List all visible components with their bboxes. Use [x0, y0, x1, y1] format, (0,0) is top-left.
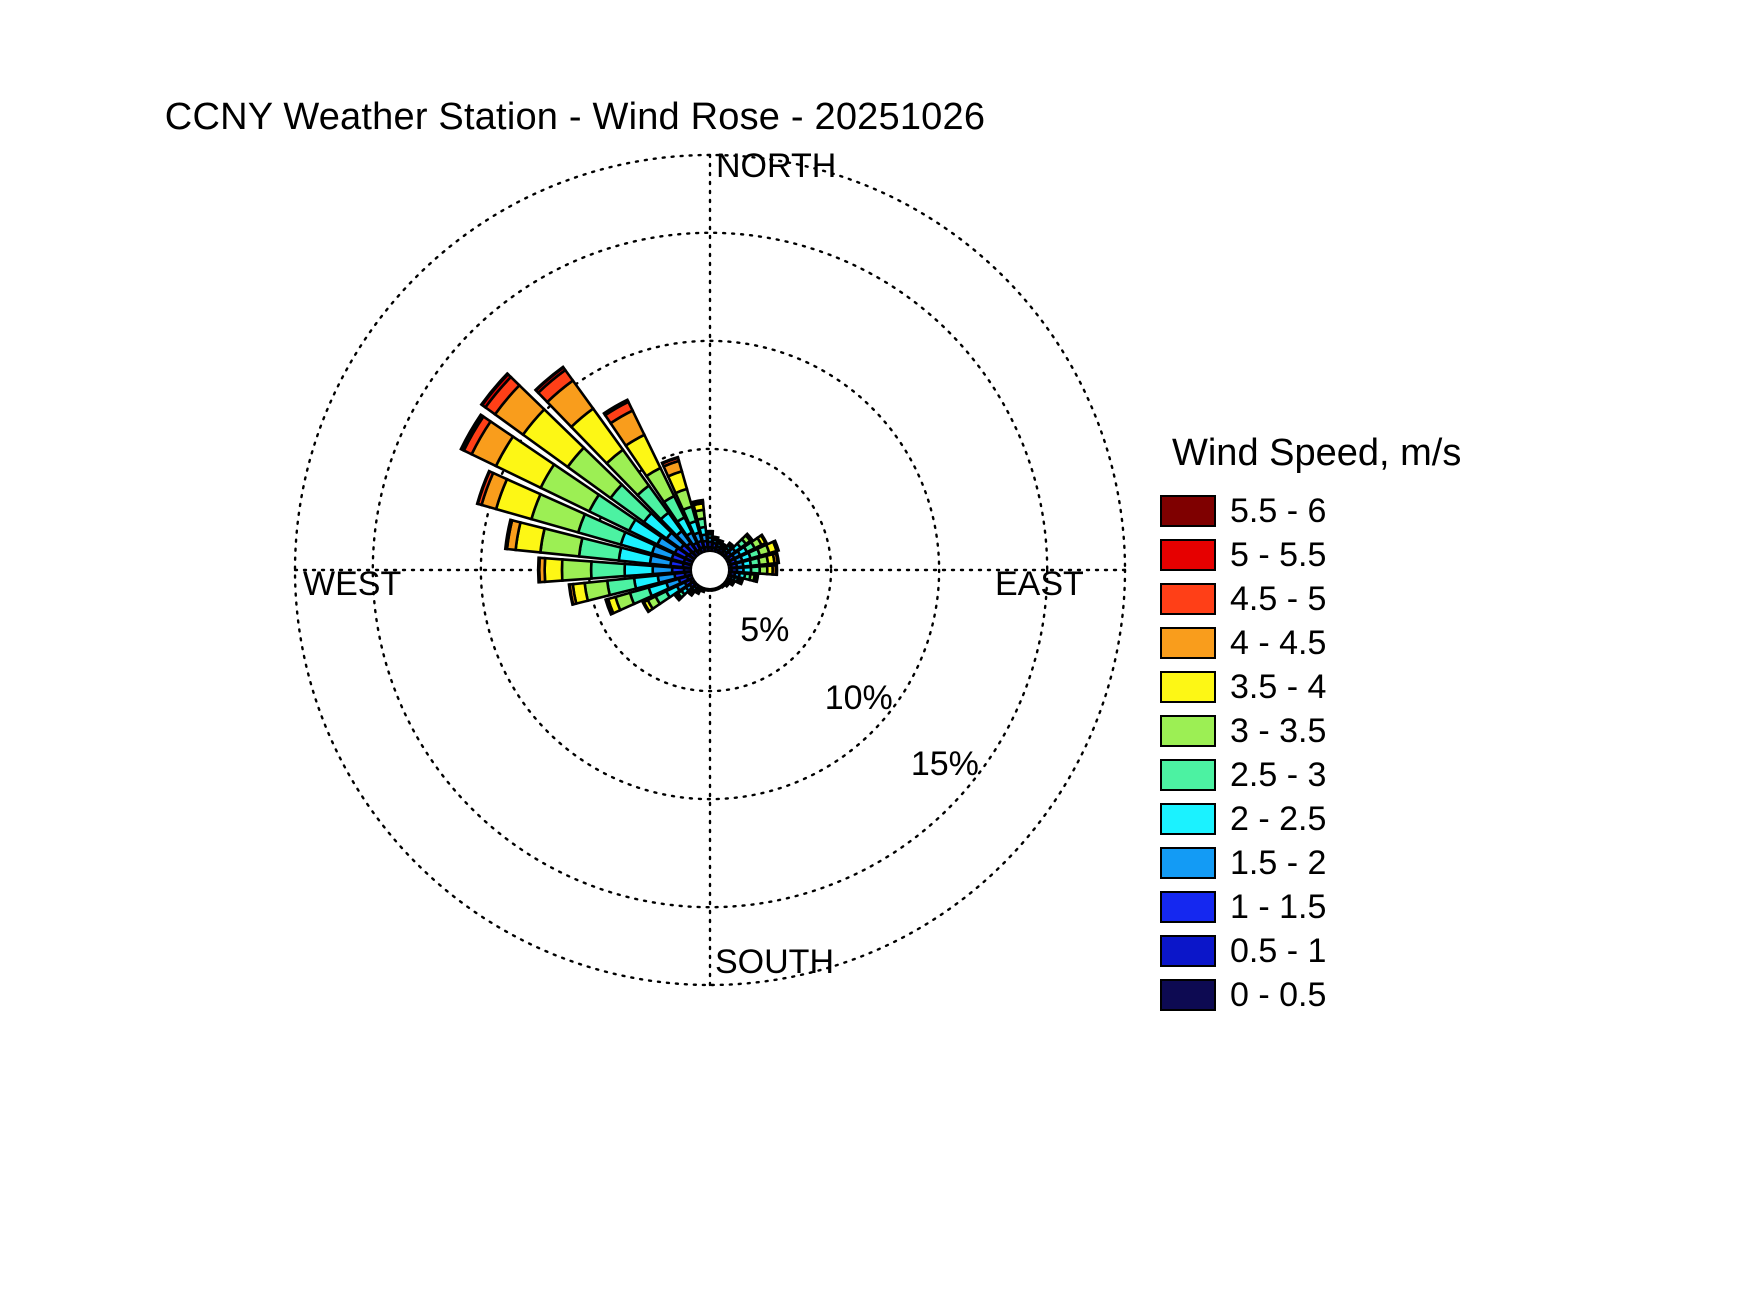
- compass-label-east: EAST: [995, 565, 1084, 604]
- compass-label-west: WEST: [303, 565, 401, 604]
- wind-rose-segment[interactable]: [732, 582, 734, 586]
- wind-rose-segment[interactable]: [591, 561, 625, 578]
- legend-swatch: [1160, 935, 1216, 967]
- legend-swatch: [1160, 803, 1216, 835]
- wind-rose-segment[interactable]: [545, 558, 563, 582]
- wind-rose-segment[interactable]: [707, 531, 713, 532]
- legend-swatch: [1160, 715, 1216, 747]
- legend-rows: 5.5 - 65 - 5.54.5 - 54 - 4.53.5 - 43 - 3…: [1160, 489, 1580, 1017]
- radial-tick-label-15: 15%: [911, 745, 979, 784]
- wind-rose-segment[interactable]: [741, 579, 743, 584]
- legend-item-label: 1.5 - 2: [1230, 846, 1326, 880]
- legend-item-label: 2 - 2.5: [1230, 802, 1326, 836]
- wind-rose-segment[interactable]: [585, 581, 610, 601]
- compass-label-south: SOUTH: [715, 943, 834, 982]
- legend-item-label: 3.5 - 4: [1230, 670, 1326, 704]
- wind-rose-plot: NORTH EAST SOUTH WEST 5% 10% 15%: [295, 155, 1125, 985]
- compass-label-north: NORTH: [716, 147, 836, 186]
- legend-item-label: 3 - 3.5: [1230, 714, 1326, 748]
- legend-item-label: 4 - 4.5: [1230, 626, 1326, 660]
- legend: Wind Speed, m/s 5.5 - 65 - 5.54.5 - 54 -…: [1160, 432, 1580, 1017]
- wind-rose-segment[interactable]: [562, 559, 591, 580]
- wind-rose-segment[interactable]: [625, 564, 653, 576]
- legend-swatch: [1160, 627, 1216, 659]
- legend-swatch: [1160, 759, 1216, 791]
- legend-item[interactable]: 5.5 - 6: [1160, 489, 1580, 533]
- legend-item[interactable]: 2 - 2.5: [1160, 797, 1580, 841]
- legend-swatch: [1160, 495, 1216, 527]
- legend-item-label: 0 - 0.5: [1230, 978, 1326, 1012]
- wind-rose-segment[interactable]: [693, 500, 703, 502]
- legend-item[interactable]: 2.5 - 3: [1160, 753, 1580, 797]
- legend-item[interactable]: 4.5 - 5: [1160, 577, 1580, 621]
- legend-item[interactable]: 3 - 3.5: [1160, 709, 1580, 753]
- page-title: CCNY Weather Station - Wind Rose - 20251…: [0, 96, 1150, 139]
- wind-rose-segment[interactable]: [718, 540, 723, 543]
- wind-rose-segment[interactable]: [776, 553, 779, 563]
- legend-swatch: [1160, 583, 1216, 615]
- legend-item[interactable]: 1.5 - 2: [1160, 841, 1580, 885]
- legend-swatch: [1160, 891, 1216, 923]
- wind-rose-segment[interactable]: [713, 537, 718, 539]
- legend-item[interactable]: 3.5 - 4: [1160, 665, 1580, 709]
- center-hole-disc: [692, 552, 728, 588]
- legend-item[interactable]: 5 - 5.5: [1160, 533, 1580, 577]
- legend-swatch: [1160, 847, 1216, 879]
- legend-item-label: 5 - 5.5: [1230, 538, 1326, 572]
- legend-item-label: 1 - 1.5: [1230, 890, 1326, 924]
- legend-item[interactable]: 1 - 1.5: [1160, 885, 1580, 929]
- legend-swatch: [1160, 671, 1216, 703]
- center-hole: [692, 552, 728, 588]
- legend-item[interactable]: 4 - 4.5: [1160, 621, 1580, 665]
- wind-rose-segment[interactable]: [726, 583, 729, 586]
- radial-tick-label-10: 10%: [825, 679, 893, 718]
- legend-item-label: 2.5 - 3: [1230, 758, 1326, 792]
- legend-item-label: 0.5 - 1: [1230, 934, 1326, 968]
- legend-item[interactable]: 0.5 - 1: [1160, 929, 1580, 973]
- wind-rose-page: CCNY Weather Station - Wind Rose - 20251…: [0, 0, 1750, 1313]
- wind-rose-segment[interactable]: [538, 558, 540, 583]
- wind-rose-segment[interactable]: [776, 565, 777, 575]
- legend-item[interactable]: 0 - 0.5: [1160, 973, 1580, 1017]
- legend-item-label: 5.5 - 6: [1230, 494, 1326, 528]
- legend-swatch: [1160, 539, 1216, 571]
- legend-swatch: [1160, 979, 1216, 1011]
- legend-item-label: 4.5 - 5: [1230, 582, 1326, 616]
- wind-rose-segment[interactable]: [756, 575, 758, 582]
- legend-title: Wind Speed, m/s: [1172, 432, 1580, 475]
- radial-tick-label-5: 5%: [740, 611, 789, 650]
- wind-rose-segment[interactable]: [653, 566, 673, 574]
- wind-rose-petals: [461, 367, 779, 614]
